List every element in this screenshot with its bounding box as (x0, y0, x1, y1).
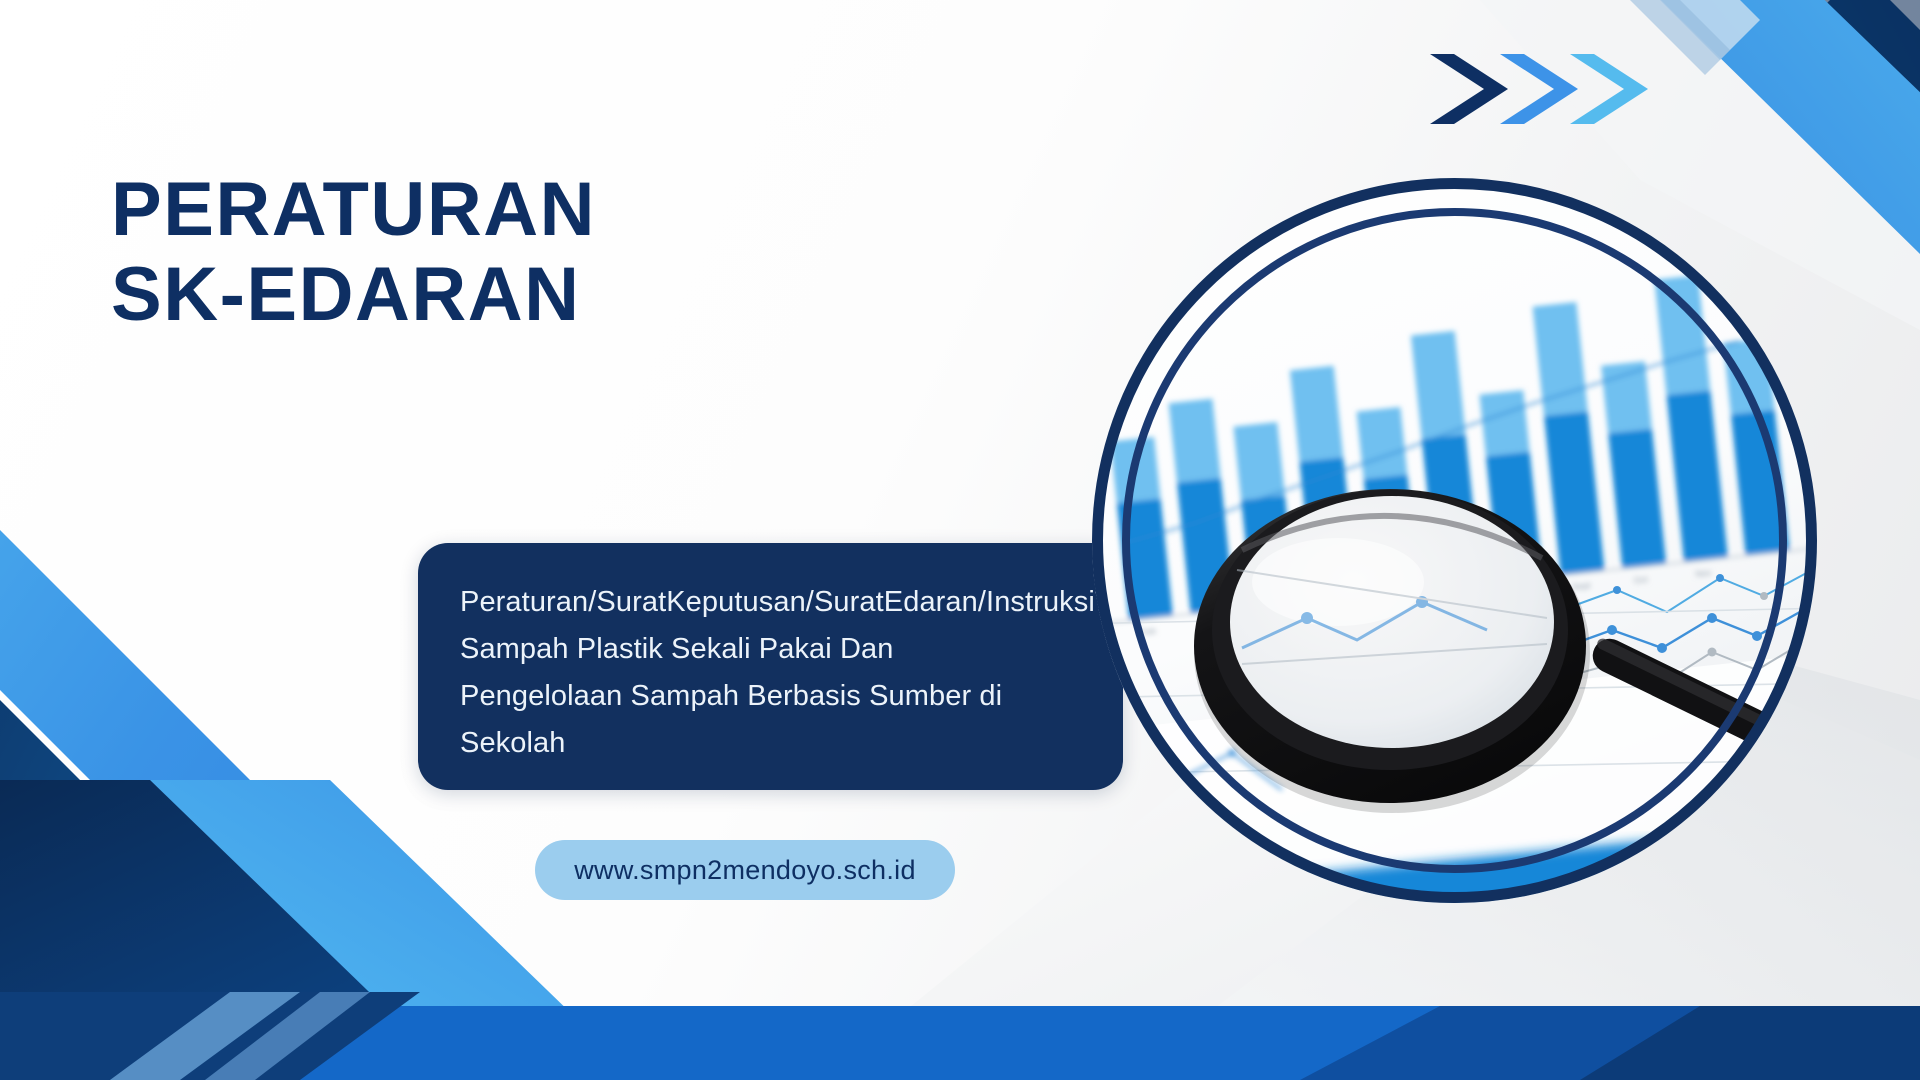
slide-canvas: PERATURAN SK-EDARAN Peraturan/SuratKeput… (0, 0, 1920, 1080)
title-line-2: SK-EDARAN (111, 257, 871, 333)
triple-chevron-arrows-icon (1428, 48, 1648, 130)
magnifier-photo-frame: FebMar AprMay JuneJuly AugSept OctNov (1092, 178, 1817, 903)
page-title: PERATURAN SK-EDARAN (111, 96, 871, 409)
website-url-label: www.smpn2mendoyo.sch.id (574, 855, 916, 886)
description-text: Peraturan/SuratKeputusan/SuratEdaran/Ins… (460, 579, 1060, 767)
title-line-1: PERATURAN (111, 167, 596, 252)
bottom-bar-decoration (0, 992, 1920, 1080)
website-url-pill[interactable]: www.smpn2mendoyo.sch.id (535, 840, 955, 900)
photo-outer-ring (1092, 178, 1817, 903)
description-card: Peraturan/SuratKeputusan/SuratEdaran/Ins… (418, 543, 1123, 790)
